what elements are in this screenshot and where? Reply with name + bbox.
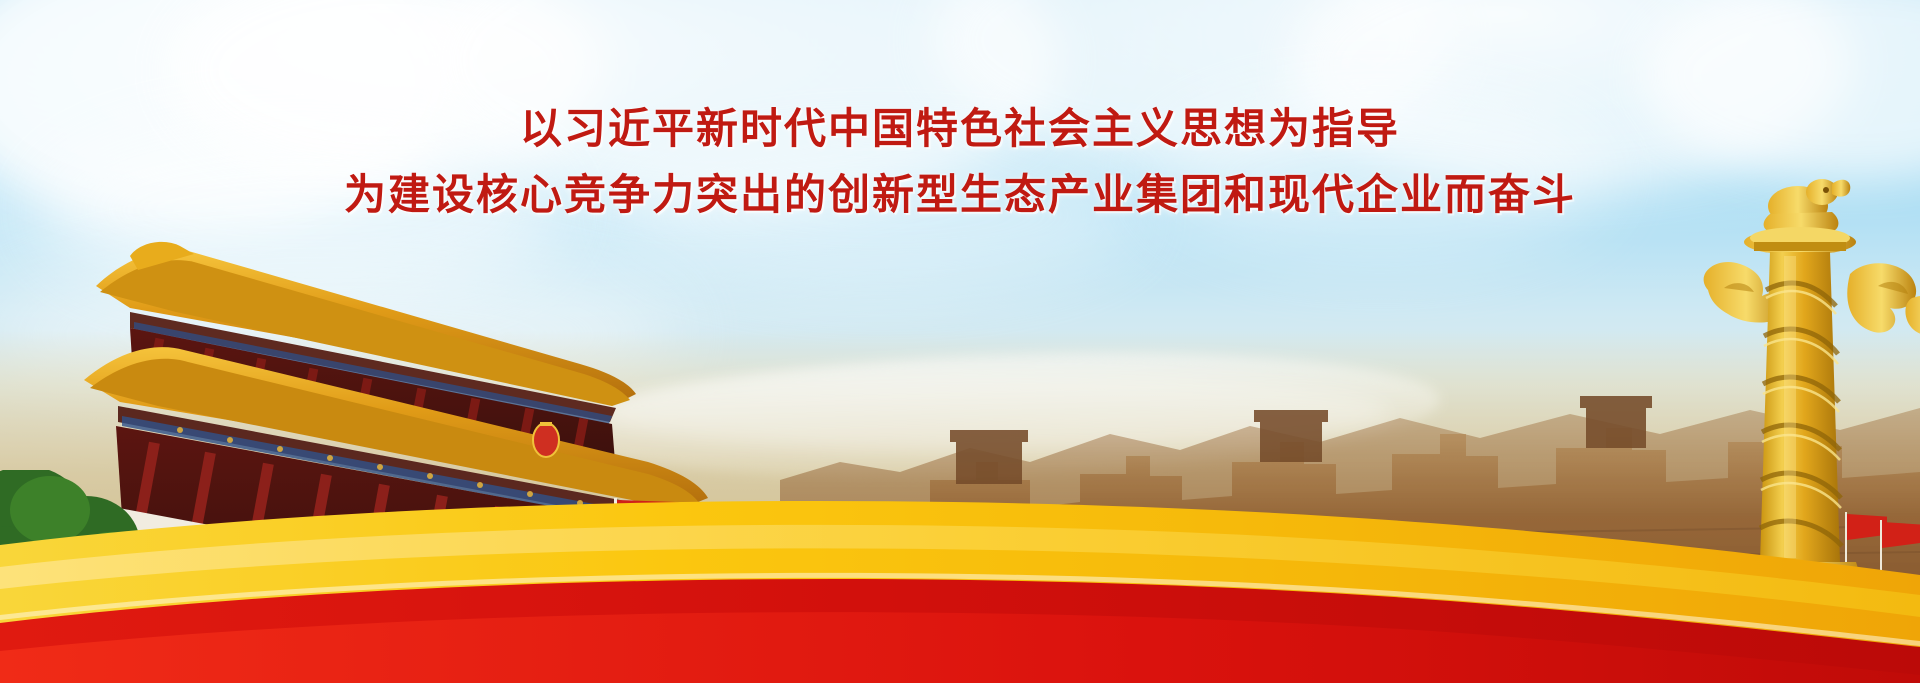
banner-canvas: 中华人民共和国万岁 世界人民大团结万岁	[0, 0, 1920, 683]
cloud-shape	[1150, 90, 1610, 260]
bottom-ribbon	[0, 483, 1920, 683]
